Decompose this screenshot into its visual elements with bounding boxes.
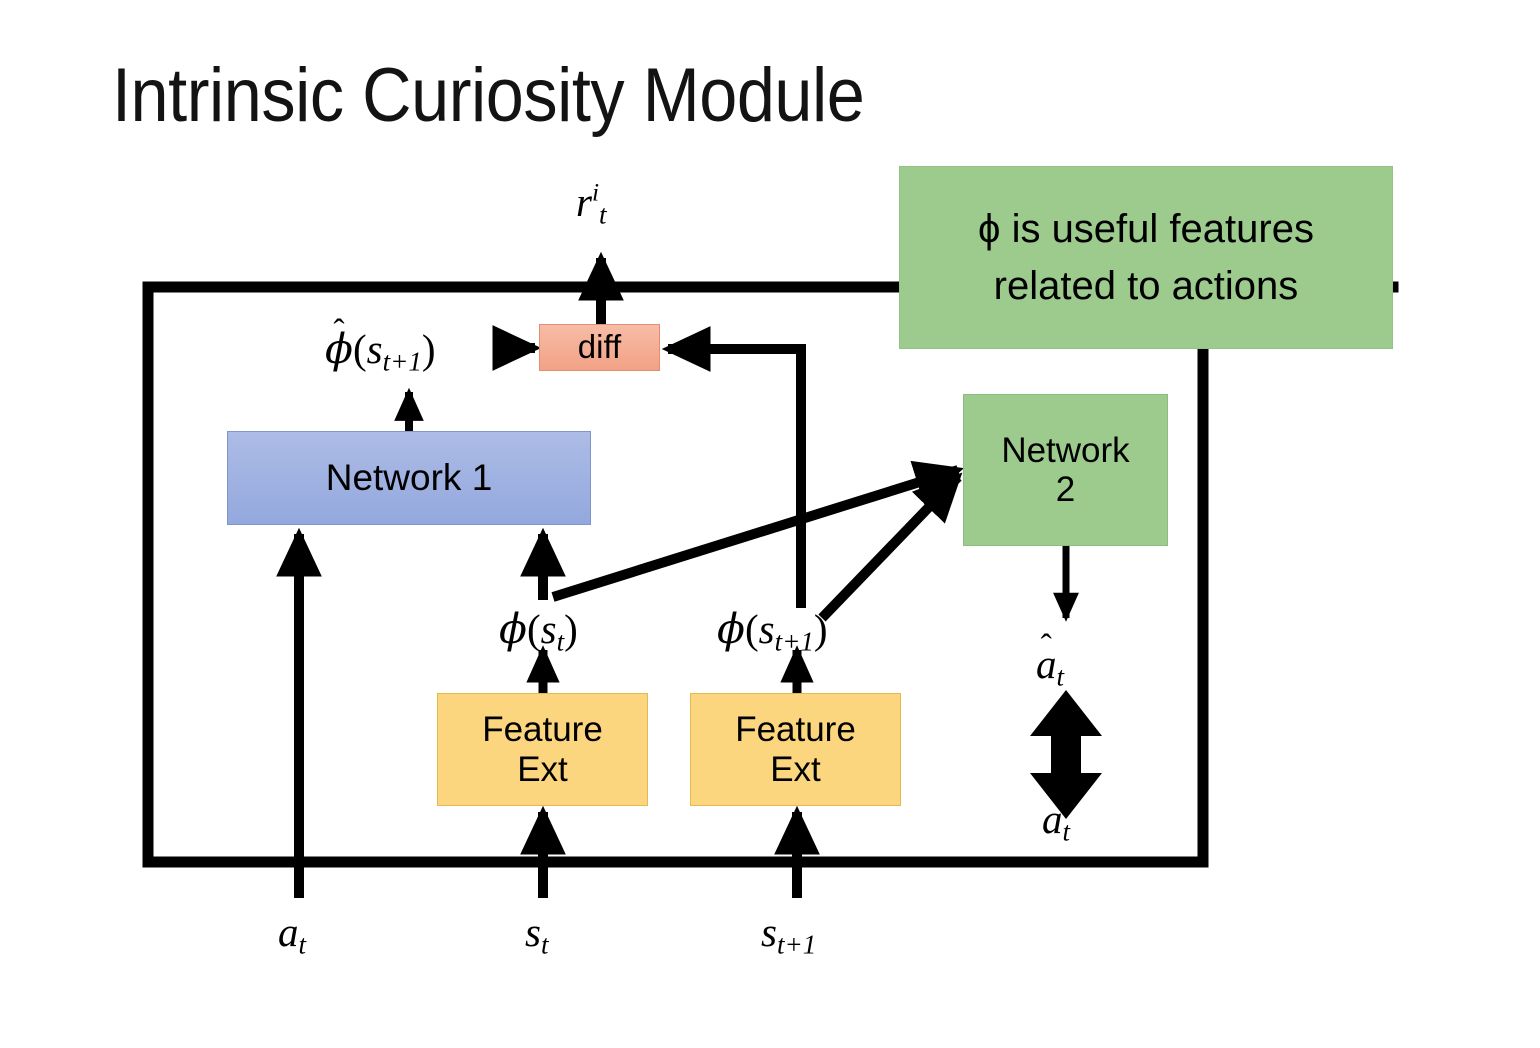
box-feature-extractor-2[interactable]: Feature Ext [690, 693, 901, 806]
label-input-state-t: st [525, 908, 548, 961]
phi-st-state: s [541, 606, 557, 652]
label-true-action: at [1042, 795, 1070, 848]
action-hat-sub: t [1057, 662, 1065, 692]
input-state-next-sub: t+1 [777, 930, 816, 960]
box-callout-note: ϕ is useful features related to actions [899, 166, 1393, 349]
feature-ext-2-label-line2: Ext [770, 750, 821, 789]
box-diff[interactable]: diff [539, 324, 660, 371]
phi-st-close-paren: ) [564, 606, 578, 652]
box-network-2[interactable]: Network 2 [963, 394, 1168, 546]
phi-st-open-paren: ( [527, 606, 541, 652]
true-action-sub: t [1063, 817, 1071, 847]
intrinsic-reward-base: r [576, 179, 592, 225]
intrinsic-reward-sub: t [599, 200, 607, 230]
action-hat-base: a [1036, 641, 1057, 687]
phi-hat-state: s [367, 326, 383, 372]
label-input-state-t-plus-1: st+1 [761, 908, 816, 961]
phi-st1-state-sub: t+1 [775, 627, 814, 657]
callout-label-line1: ϕ is useful features [978, 201, 1314, 258]
label-predicted-action: ̂at [1036, 640, 1064, 693]
phi-st1-close-paren: ) [814, 606, 828, 652]
network-1-label: Network 1 [326, 457, 493, 498]
callout-label-line2: related to actions [994, 258, 1299, 315]
input-state-next-base: s [761, 909, 777, 955]
diff-label: diff [578, 329, 621, 366]
arrow-phinext-to-diff [668, 349, 801, 608]
diagram-canvas: Intrinsic Curiosity Module [0, 0, 1540, 1048]
input-action-sub: t [299, 930, 307, 960]
box-network-1[interactable]: Network 1 [227, 431, 591, 525]
arrow-phinext-to-net2 [822, 477, 958, 618]
network-2-label-line1: Network [1001, 431, 1129, 470]
input-state-base: s [525, 909, 541, 955]
phi-hat-base: ϕ [325, 325, 353, 373]
network-2-label-line2: 2 [1056, 470, 1075, 509]
label-phi-hat-next-state: ̂ϕ(st+1) [325, 325, 436, 378]
label-phi-state-t: ϕ(st) [499, 605, 578, 658]
intrinsic-reward-sup: i [592, 178, 599, 206]
input-action-base: a [278, 909, 299, 955]
phi-hat-open-paren: ( [353, 326, 367, 372]
input-state-sub: t [541, 930, 549, 960]
feature-ext-2-label-line1: Feature [735, 710, 856, 749]
true-action-base: a [1042, 796, 1063, 842]
label-intrinsic-reward: rit [576, 178, 607, 231]
box-feature-extractor-1[interactable]: Feature Ext [437, 693, 648, 806]
phi-st-base: ϕ [499, 605, 527, 653]
label-input-action: at [278, 908, 306, 961]
label-phi-state-t-plus-1: ϕ(st+1) [717, 605, 828, 658]
phi-hat-state-sub: t+1 [383, 347, 422, 377]
phi-st1-state: s [759, 606, 775, 652]
phi-st1-base: ϕ [717, 605, 745, 653]
phi-st-state-sub: t [557, 627, 565, 657]
phi-hat-close-paren: ) [422, 326, 436, 372]
feature-ext-1-label-line2: Ext [517, 750, 568, 789]
feature-ext-1-label-line1: Feature [482, 710, 603, 749]
phi-st1-open-paren: ( [745, 606, 759, 652]
